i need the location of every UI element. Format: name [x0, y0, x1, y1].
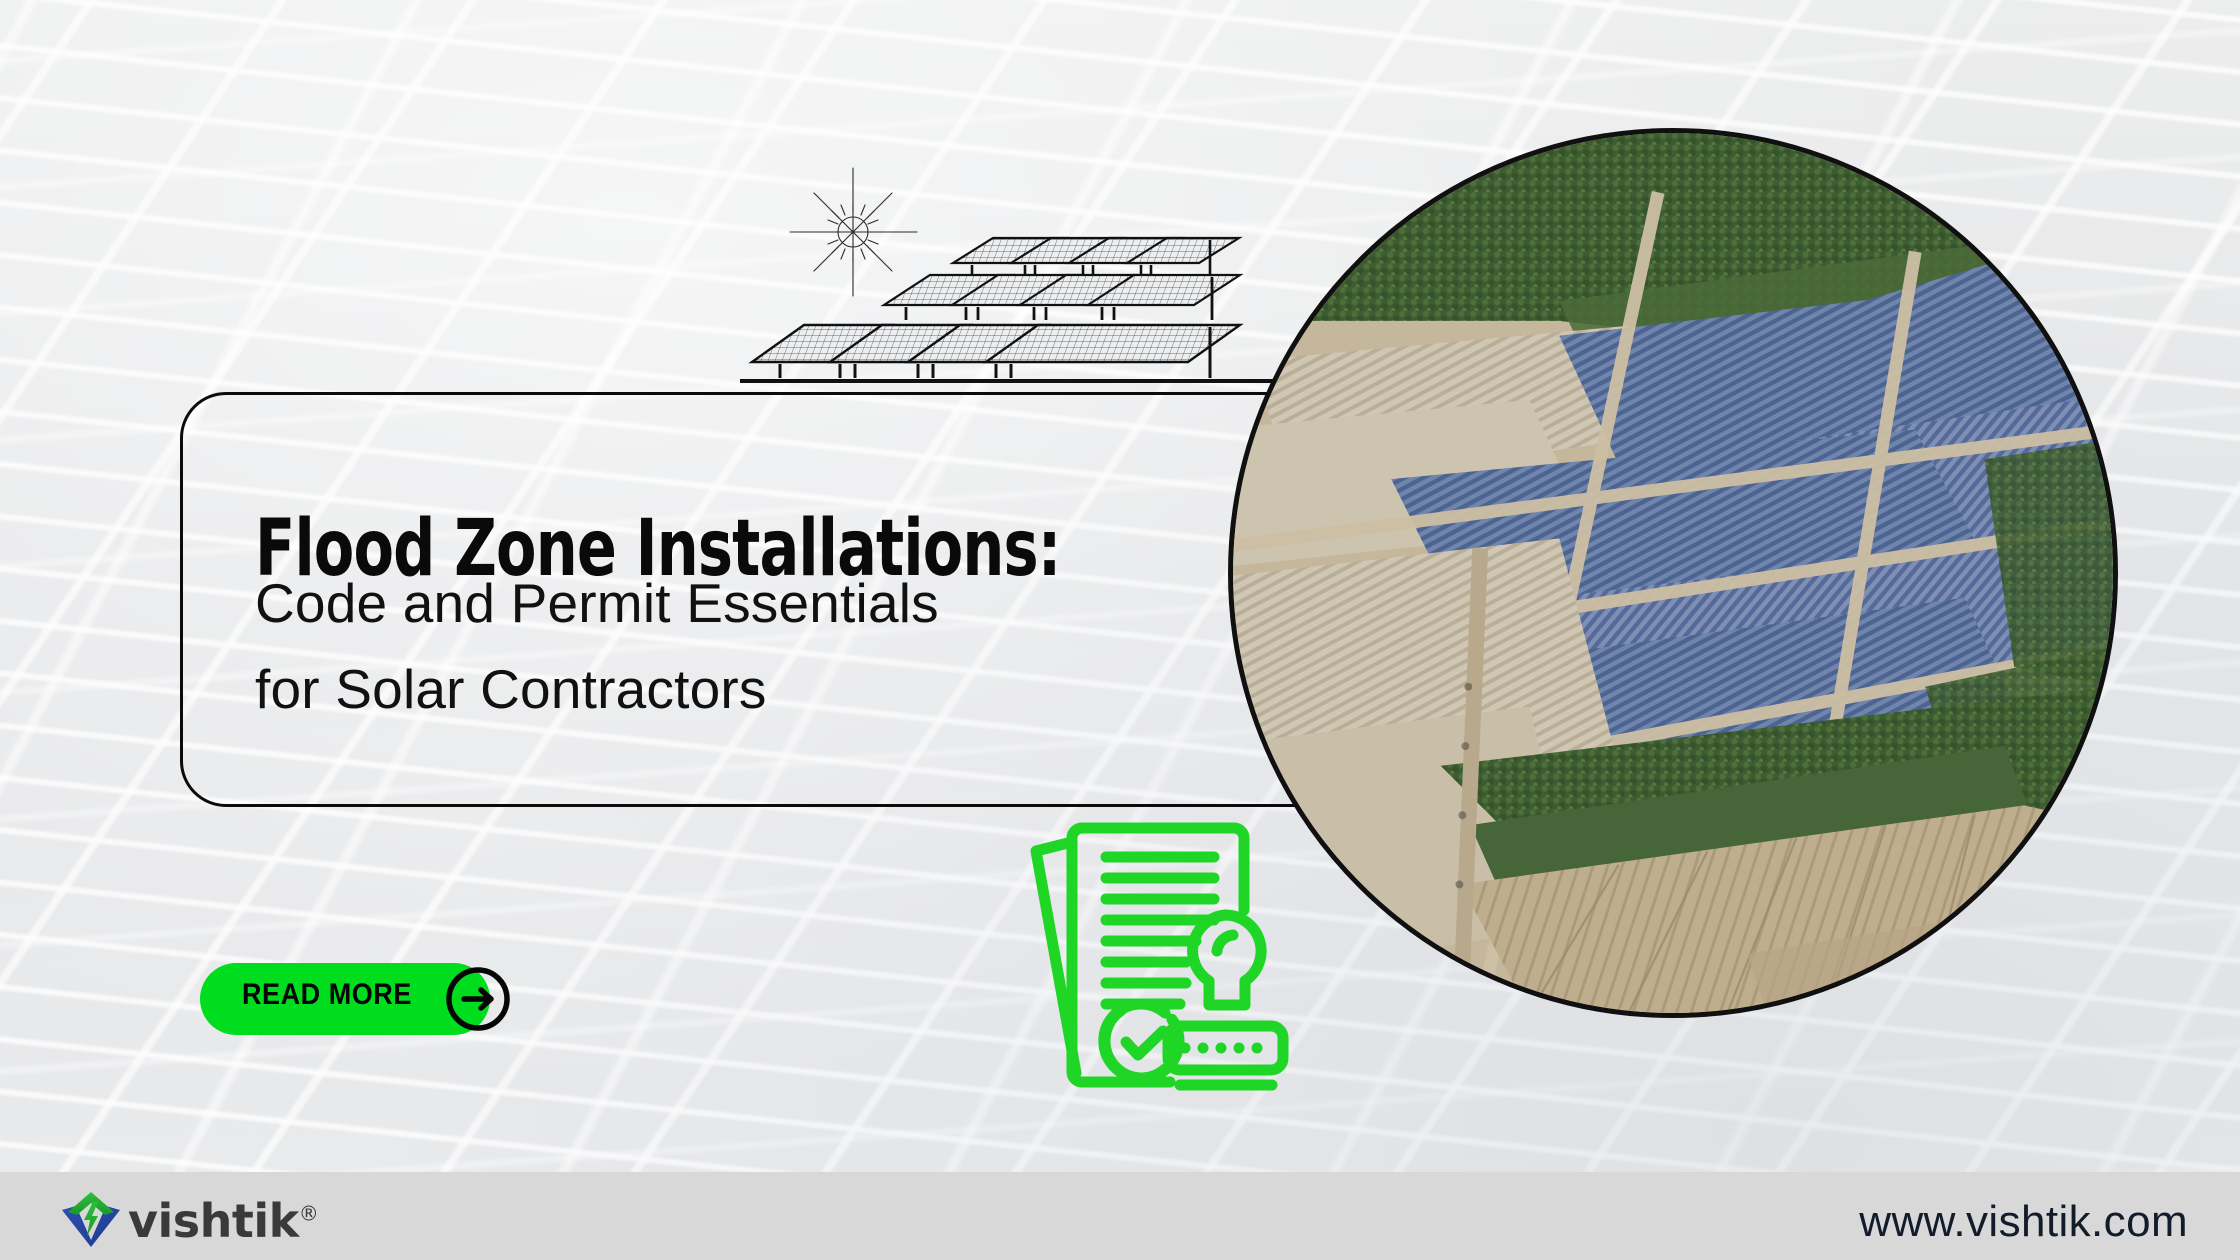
read-more-label: READ MORE [242, 978, 412, 1012]
website-url: www.vishtik.com [1859, 1197, 2188, 1247]
aerial-solar-farm-photo [1228, 128, 2118, 1018]
marketing-banner: Flood Zone Installations: Code and Permi… [0, 0, 2240, 1260]
brand-wordmark: vishtik® [128, 1194, 318, 1248]
vishtik-chevron-bolt-logo [60, 1190, 122, 1248]
brand-name: vishtik [128, 1194, 299, 1248]
arrow-right-circle-icon[interactable] [442, 963, 514, 1035]
subtitle-line-1: Code and Permit Essentials [255, 560, 1155, 646]
document-stamp-approval-icon [1020, 805, 1300, 1105]
trademark-symbol: ® [299, 1202, 319, 1226]
subtitle-line-2: for Solar Contractors [255, 646, 1155, 732]
page-subtitle: Code and Permit Essentials for Solar Con… [255, 560, 1155, 732]
solar-panel-array-icon [740, 150, 1280, 400]
